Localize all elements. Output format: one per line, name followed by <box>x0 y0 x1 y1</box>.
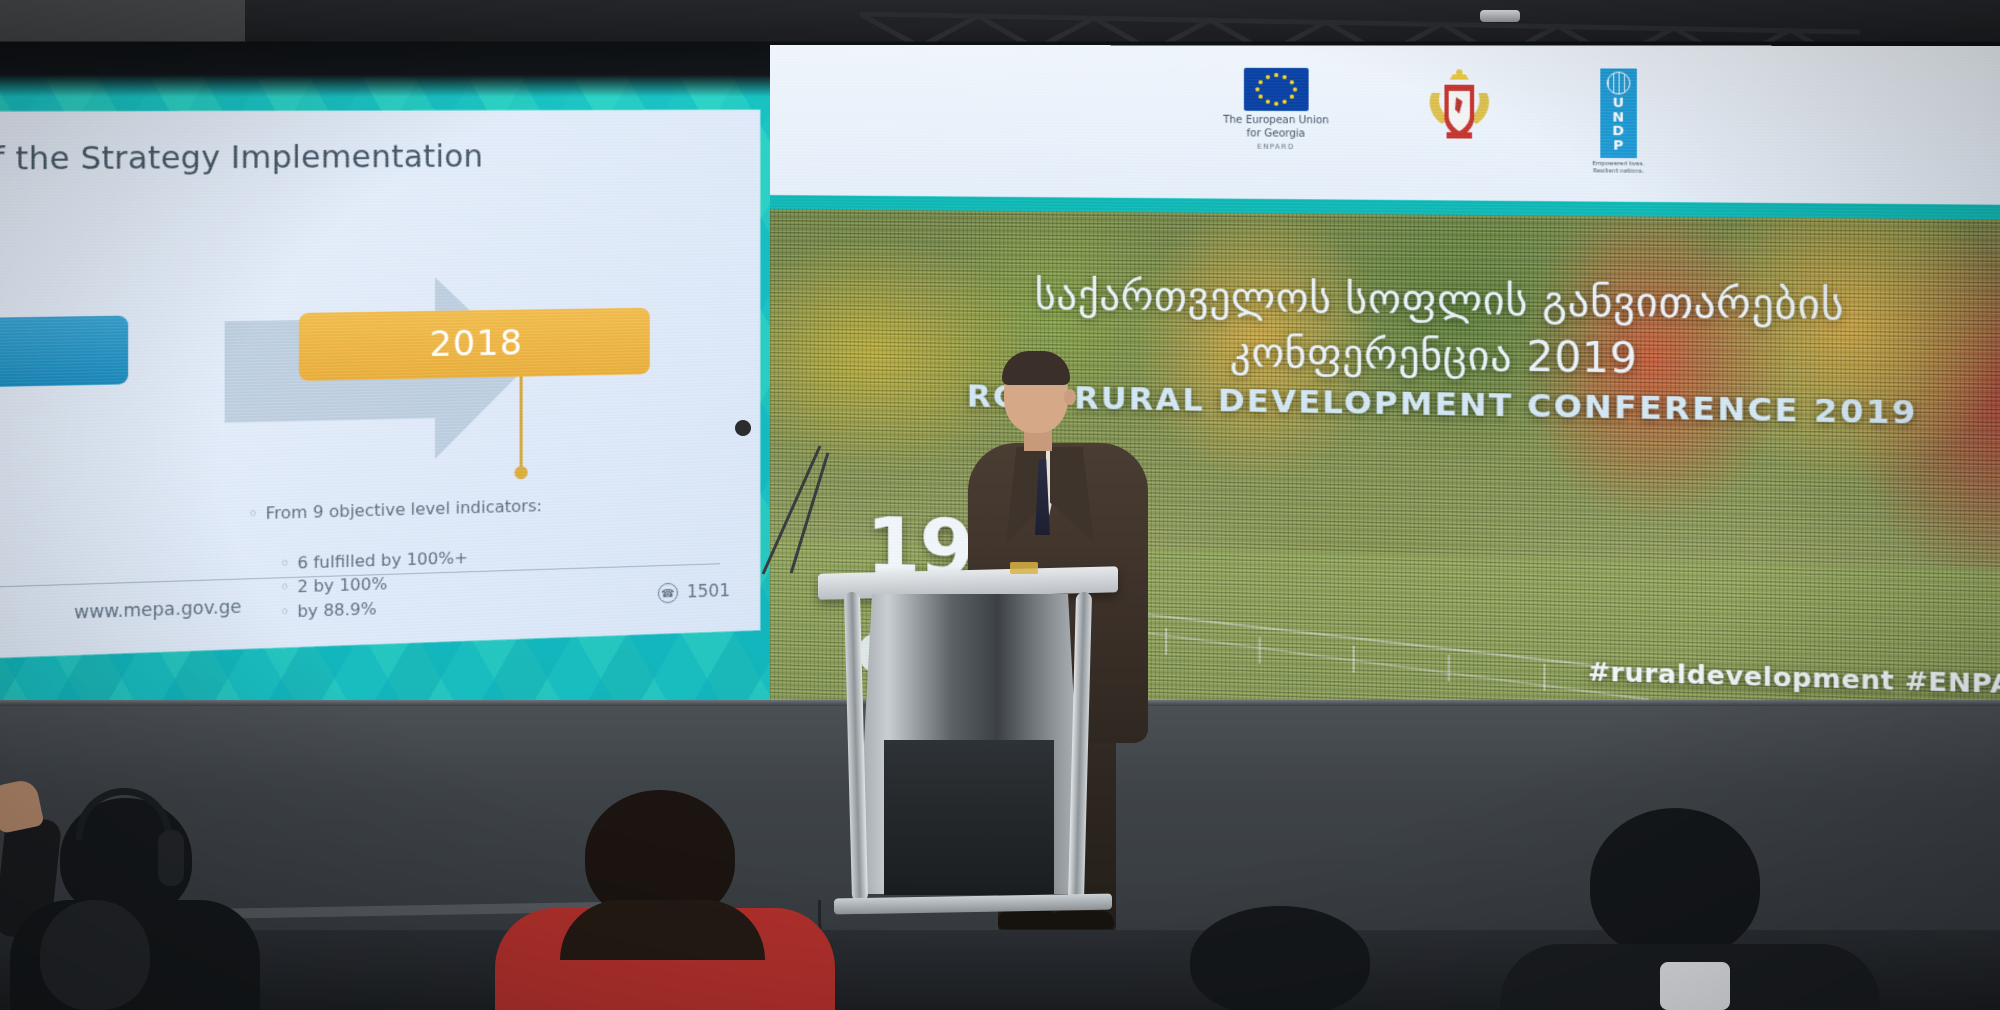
undp-caption: Empowered lives. Resilient nations. <box>1592 161 1644 176</box>
undp-icon: U N D P <box>1600 68 1637 157</box>
photo-fence-post <box>1353 646 1355 673</box>
georgia-coat-of-arms-logo <box>1422 68 1498 147</box>
photo-fence-post <box>1543 664 1545 691</box>
undp-caption-line2: Resilient nations. <box>1592 168 1644 176</box>
podium-emblem <box>1010 562 1038 574</box>
audience-member-head <box>40 900 150 1010</box>
audience-member-head <box>1590 808 1760 958</box>
left-presentation-slide: ults of the Strategy Implementation 2017… <box>0 110 760 665</box>
undp-globe-icon <box>1606 72 1630 95</box>
podium-dark-panel <box>884 740 1054 895</box>
undp-letter: U <box>1613 97 1624 111</box>
headphone-earcup-icon <box>158 830 184 886</box>
eu-caption-line1: The European Union <box>1223 115 1329 128</box>
eu-flag-icon <box>1244 68 1309 111</box>
podium-lectern <box>840 570 1100 940</box>
left-column-text: r level indicators: d by 100% or 100%+; … <box>0 502 246 665</box>
undp-letter: P <box>1613 139 1623 153</box>
photo-fence-post <box>1259 637 1261 664</box>
photo-fence-post <box>1165 628 1167 655</box>
eu-caption-line2: for Georgia <box>1223 128 1329 141</box>
audience-member-collar <box>1660 962 1730 1010</box>
photo-fence-post <box>1448 655 1450 682</box>
year-badge-2017: 2017 <box>0 316 128 392</box>
enpard-label: ENPARD <box>1257 143 1294 151</box>
screenshot-root: ults of the Strategy Implementation 2017… <box>0 0 2000 1010</box>
phone-icon: ☎ <box>658 583 678 604</box>
undp-letter: D <box>1612 125 1624 139</box>
eu-logo-caption: The European Union for Georgia <box>1223 115 1329 141</box>
audience-member-head <box>1190 906 1370 1010</box>
podium-rail-right <box>1068 592 1092 902</box>
undp-caption-line1: Empowered lives. <box>1592 161 1644 169</box>
year-badge-2018: 2018 <box>299 308 650 381</box>
progress-arrow-icon <box>225 268 538 494</box>
slide-hotline-number: 1501 <box>687 581 730 603</box>
speaker-ear <box>1064 389 1076 405</box>
audience-member-shoulders <box>560 900 765 960</box>
eu-flag-logo: The European Union for Georgia ENPARD <box>1223 68 1329 151</box>
logo-row: The European Union for Georgia ENPARD <box>770 67 2000 179</box>
left-column-header: r level indicators: <box>0 502 246 539</box>
coat-of-arms-icon <box>1422 68 1498 147</box>
slide-hotline: ☎ 1501 <box>658 581 730 604</box>
undp-logo: U N D P Empowered lives. Resilient natio… <box>1592 68 1644 175</box>
year-2018-label: 2018 <box>429 323 522 365</box>
undp-letter: N <box>1612 111 1624 125</box>
speaker-hair <box>1002 351 1070 385</box>
right-column-header: From 9 objective level indicators: <box>248 489 732 526</box>
left-slide-title: ults of the Strategy Implementation <box>0 139 483 178</box>
connector-line-2018 <box>520 377 523 471</box>
conference-title-georgian: საქართველოს სოფლის განვითარების კონფერენ… <box>770 265 2000 395</box>
microphone-head-icon <box>735 420 751 436</box>
